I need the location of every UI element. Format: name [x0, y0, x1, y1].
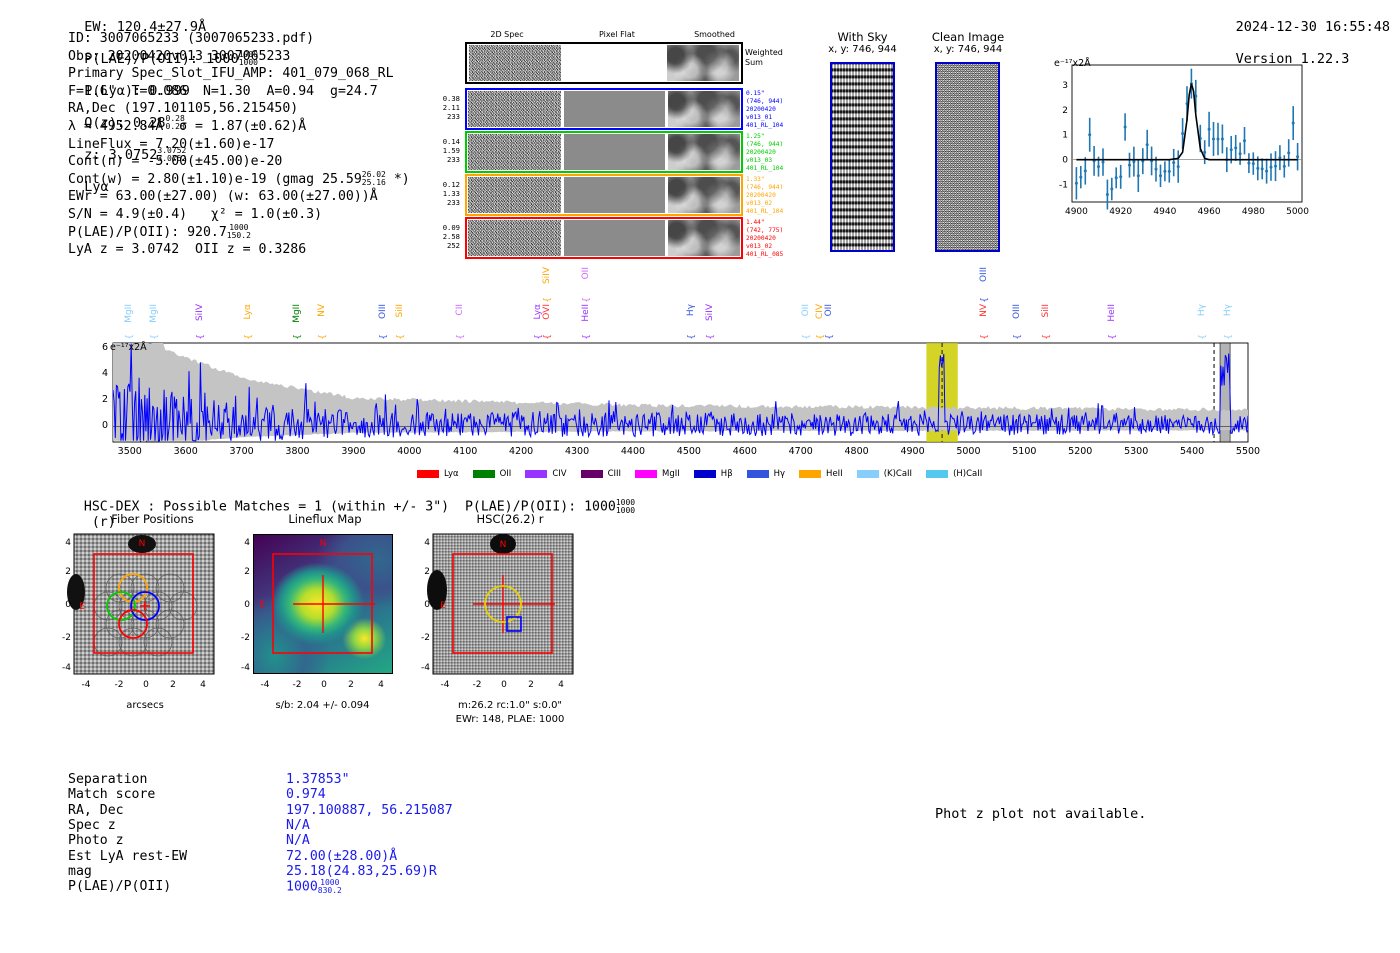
- legend-swatch: [799, 470, 821, 478]
- emission-line-brace: {: [582, 297, 592, 303]
- emission-line-label: OII: [825, 304, 834, 316]
- bigspec-unit-label: e⁻¹⁷x2Å: [110, 342, 147, 353]
- bigspec-x-tick: 4600: [719, 446, 771, 457]
- bigspec-x-tick: 5500: [1222, 446, 1274, 457]
- legend-item: Hβ: [694, 469, 733, 479]
- fiber-row: 0.092.582521.44"(742, 775)20200420v013_0…: [430, 217, 810, 259]
- fiber-row-right-meta: 0.15"(746, 944)20200420v013_01401_RL_104: [746, 90, 810, 130]
- legend-swatch: [635, 470, 657, 478]
- clean-image-subtitle: x, y: 746, 944: [918, 44, 1018, 55]
- svg-text:-2: -2: [241, 633, 250, 643]
- with-sky-title: With Sky: [815, 30, 910, 44]
- svg-text:0: 0: [143, 680, 149, 690]
- fiber-row-image-strip: [465, 88, 743, 130]
- emission-line-brace: {: [125, 334, 135, 340]
- legend-item: HeII: [799, 469, 843, 479]
- 2d-spec-panel: 2D Spec Pixel Flat Smoothed Weighted Sum…: [430, 30, 810, 262]
- table-row: P(LAE)/P(OII)10001000830.2: [68, 879, 538, 894]
- fiber-positions-title: Fiber Positions: [60, 512, 245, 526]
- fiber-pixelflat-image: [564, 134, 665, 170]
- svg-text:2: 2: [1062, 106, 1068, 116]
- table-row: Match score0.974: [68, 787, 538, 802]
- spec-col-title-2dspec: 2D Spec: [452, 30, 562, 39]
- bigspec-x-tick: 4400: [607, 446, 659, 457]
- svg-text:-4: -4: [421, 663, 430, 673]
- fiber-row: 0.382.112330.15"(746, 944)20200420v013_0…: [430, 88, 810, 130]
- legend-swatch: [417, 470, 439, 478]
- info-radec: RA,Dec (197.101105,56.215450): [68, 100, 410, 118]
- svg-text:4940: 4940: [1153, 207, 1176, 217]
- svg-text:0: 0: [501, 680, 507, 690]
- match-detail-table: Separation1.37853"Match score0.974RA, De…: [68, 772, 538, 902]
- full-spectrum-panel: MgII{MgII{SiIV{Lyα{MgII{NV{OIII{SiII{CII…: [0, 268, 1400, 478]
- emission-line-label: MgII: [125, 304, 134, 323]
- bigspec-x-tick: 5300: [1110, 446, 1162, 457]
- legend-swatch: [926, 470, 948, 478]
- hsc-r-xlabel: m:26.2 rc:1.0" s:0.0": [415, 700, 605, 711]
- fiber-row-image-strip: [465, 174, 743, 216]
- fiber-2dspec-image: [468, 177, 561, 213]
- table-row: Photo zN/A: [68, 833, 538, 848]
- fiber-pixelflat-image: [564, 177, 665, 213]
- emission-line-label: SiII: [396, 304, 405, 318]
- table-row-key: RA, Dec: [68, 803, 124, 818]
- fiber-2dspec-image: [468, 91, 561, 127]
- legend-swatch: [694, 470, 716, 478]
- with-sky-image: [830, 62, 895, 252]
- table-row-key: Spec z: [68, 818, 116, 833]
- legend-swatch: [747, 470, 769, 478]
- lineflux-map-overlay: N E 42 0-2 -4 -4-2 02 4: [235, 530, 415, 712]
- emission-line-brace: {: [1042, 334, 1052, 340]
- fiber-smoothed-image: [668, 134, 740, 170]
- svg-text:2: 2: [65, 567, 71, 577]
- spec-col-title-smoothed: Smoothed: [667, 30, 762, 39]
- bigspec-x-tick: 5400: [1166, 446, 1218, 457]
- bigspec-x-tick: 4000: [383, 446, 435, 457]
- fiber-positions-svg: N E 42 0-2 -4 -4-2 02 4: [60, 530, 245, 712]
- table-row: RA, Dec197.100887, 56.215087: [68, 803, 538, 818]
- hsc-r-title: HSC(26.2) r: [415, 512, 605, 526]
- legend-item: Hγ: [747, 469, 785, 479]
- bigspec-x-tick: 4200: [495, 446, 547, 457]
- legend-item: (K)CaII: [857, 469, 912, 479]
- table-row-key: Separation: [68, 772, 147, 787]
- fiber-2dspec-image: [468, 134, 561, 170]
- clean-image: [935, 62, 1000, 252]
- emission-line-label: SiIV: [196, 304, 205, 321]
- info-cont-w: Cont(w) = 2.80(±1.10)e-19 (gmag 25.5926.…: [68, 171, 410, 189]
- info-ewr: EWr = 63.00(±27.00) (w: 63.00(±27.00))Å: [68, 188, 410, 206]
- svg-text:0: 0: [65, 600, 71, 610]
- bigspec-x-tick: 4100: [439, 446, 491, 457]
- emission-line-label: Hγ: [1224, 304, 1233, 316]
- emission-line-label: OII: [582, 267, 591, 279]
- emission-line-label: SiII: [1042, 304, 1051, 318]
- source-info-block: ID: 3007065233 (3007065233.pdf) Obs: 202…: [68, 30, 410, 259]
- emission-line-brace: {: [825, 334, 835, 340]
- cutout-fiber-positions: Fiber Positions N E 42 0-2 -4: [60, 512, 245, 712]
- emission-line-brace: {: [582, 334, 592, 340]
- emission-line-brace: {: [318, 334, 328, 340]
- legend-label: (K)CaII: [884, 469, 912, 479]
- fiber-row: 0.121.332331.33"(746, 944)20200420v013_0…: [430, 174, 810, 216]
- table-row-key: Est LyA rest-EW: [68, 849, 187, 864]
- bigspec-x-tick: 3500: [104, 446, 156, 457]
- photoz-unavailable-message: Phot z plot not available.: [935, 806, 1146, 822]
- emission-line-label: NV: [318, 304, 327, 317]
- svg-text:4960: 4960: [1198, 207, 1221, 217]
- svg-text:4: 4: [378, 680, 384, 690]
- info-plae-poii: P(LAE)/P(OII): 920.71000150.2: [68, 224, 410, 242]
- emission-line-label: Lyα: [244, 304, 253, 319]
- svg-text:N: N: [500, 540, 507, 550]
- emission-line-label: CII: [456, 304, 465, 316]
- emission-line-brace: {: [244, 334, 254, 340]
- svg-text:2: 2: [170, 680, 176, 690]
- bigspec-x-tick: 3700: [216, 446, 268, 457]
- table-row-key: Photo z: [68, 833, 124, 848]
- table-row-value: 1.37853": [286, 772, 350, 787]
- legend-swatch: [525, 470, 547, 478]
- table-row-key: P(LAE)/P(OII): [68, 879, 171, 894]
- svg-text:4980: 4980: [1242, 207, 1265, 217]
- legend-item: CIV: [525, 469, 566, 479]
- timestamp: 2024-12-30 16:55:48: [1236, 19, 1390, 35]
- svg-text:4: 4: [424, 538, 430, 548]
- svg-text:0: 0: [1062, 156, 1068, 166]
- svg-text:4920: 4920: [1109, 207, 1132, 217]
- svg-text:0: 0: [321, 680, 327, 690]
- fiber-rows-container: 0.382.112330.15"(746, 944)20200420v013_0…: [430, 88, 810, 262]
- emission-line-label: NV: [980, 304, 989, 317]
- svg-text:-4: -4: [261, 680, 270, 690]
- svg-text:-4: -4: [241, 663, 250, 673]
- emission-line-label: OIII: [980, 267, 989, 282]
- bigspec-x-tick: 4900: [887, 446, 939, 457]
- info-redshifts: LyA z = 3.0742 OII z = 0.3286: [68, 241, 410, 259]
- info-seeing: F=1.6" T=0.086 N=1.30 A=0.94 g=24.7: [68, 83, 410, 101]
- legend-item: CIII: [581, 469, 621, 479]
- sky-clean-panel: With Sky x, y: 746, 944 Clean Image x, y…: [815, 30, 1020, 260]
- bigspec-y-tick: 6: [88, 342, 108, 353]
- svg-text:4: 4: [65, 538, 71, 548]
- legend-item: OII: [473, 469, 512, 479]
- fiber-row-right-meta: 1.33"(746, 944)20200420v013_02401_RL_104: [746, 176, 810, 216]
- line-zoom-plot: -10123490049204940496049805000 e⁻¹⁷x2Å: [1040, 55, 1310, 230]
- legend-item: Lyα: [417, 469, 459, 479]
- info-primary-spec: Primary Spec_Slot_IFU_AMP: 401_079_068_R…: [68, 65, 410, 83]
- emission-line-brace: {: [1198, 334, 1208, 340]
- fiber-row: 0.141.592331.25"(746, 944)20200420v013_0…: [430, 131, 810, 173]
- emission-line-labels: MgII{MgII{SiIV{Lyα{MgII{NV{OIII{SiII{CII…: [0, 268, 1400, 346]
- bigspec-y-tick: 0: [88, 420, 108, 431]
- fiber-smoothed-image: [668, 177, 740, 213]
- emission-line-brace: {: [706, 334, 716, 340]
- svg-text:1: 1: [1062, 131, 1068, 141]
- svg-text:2: 2: [424, 567, 430, 577]
- table-row-value: N/A: [286, 818, 310, 833]
- emission-line-brace: {: [980, 334, 990, 340]
- legend-label: OII: [500, 469, 512, 479]
- fiber-smoothed-image: [668, 220, 740, 256]
- bigspec-y-tick: 4: [88, 368, 108, 379]
- hsc-r-svg: N E 42 0-2 -4 -4-2 02 4: [415, 530, 605, 712]
- weighted-sum-label: Weighted Sum: [745, 48, 783, 68]
- emission-line-legend: LyαOIICIVCIIIMgIIHβHγHeII(K)CaII(H)CaII: [417, 463, 1017, 482]
- fiber-row-image-strip: [465, 217, 743, 259]
- svg-text:4: 4: [200, 680, 206, 690]
- legend-swatch: [857, 470, 879, 478]
- svg-text:5000: 5000: [1286, 207, 1309, 217]
- svg-text:4: 4: [558, 680, 564, 690]
- bigspec-x-tick: 4700: [775, 446, 827, 457]
- legend-label: Lyα: [444, 469, 459, 479]
- emission-line-label: SiIV: [706, 304, 715, 321]
- svg-text:2: 2: [528, 680, 534, 690]
- table-row-value: 197.100887, 56.215087: [286, 803, 453, 818]
- fiber-smoothed-image: [668, 91, 740, 127]
- svg-text:2: 2: [244, 567, 250, 577]
- table-row-key: mag: [68, 864, 92, 879]
- emission-line-brace: {: [396, 334, 406, 340]
- bigspec-x-tick: 5200: [1054, 446, 1106, 457]
- svg-text:-2: -2: [115, 680, 124, 690]
- info-id: ID: 3007065233 (3007065233.pdf): [68, 30, 410, 48]
- fiber-pixelflat-image: [564, 220, 665, 256]
- table-plae-range: 1000830.2: [318, 879, 342, 894]
- info-wavelength: λ = 4952.84Å σ = 1.87(±0.62)Å: [68, 118, 410, 136]
- svg-text:-4: -4: [441, 680, 450, 690]
- emission-line-label: HeII: [1108, 304, 1117, 322]
- cutout-hsc-r: HSC(26.2) r N E 42 0-2 -4 -4-2 02 4 m:26…: [415, 512, 605, 727]
- table-row: mag25.18(24.83,25.69)R: [68, 864, 538, 879]
- table-row-value: 72.00(±28.00)Å: [286, 849, 397, 864]
- emission-line-label: OIII: [1013, 304, 1022, 319]
- bigspec-y-tick: 2: [88, 394, 108, 405]
- table-row: Spec zN/A: [68, 818, 538, 833]
- svg-text:-2: -2: [421, 633, 430, 643]
- emission-line-label: SiIV: [543, 267, 552, 284]
- fiber-row-left-stats: 0.121.33233: [430, 180, 460, 208]
- fiber-row-right-meta: 1.25"(746, 944)20200420v013_03401_RL_104: [746, 133, 810, 173]
- info-lineflux: LineFlux = 7.20(±1.60)e-17: [68, 136, 410, 154]
- weighted-sum-2dspec-image: [469, 45, 561, 81]
- lineflux-map-title: Lineflux Map: [235, 512, 415, 526]
- emission-line-label: MgII: [293, 304, 302, 323]
- emission-line-label: OII: [802, 304, 811, 316]
- legend-label: MgII: [662, 469, 680, 479]
- svg-text:-2: -2: [293, 680, 302, 690]
- with-sky-subtitle: x, y: 746, 944: [815, 44, 910, 55]
- emission-line-brace: {: [379, 334, 389, 340]
- svg-text:4: 4: [244, 538, 250, 548]
- bigspec-x-tick: 4800: [831, 446, 883, 457]
- emission-line-brace: {: [543, 297, 553, 303]
- zoom-unit-label: e⁻¹⁷x2Å: [1054, 58, 1091, 69]
- emission-line-brace: {: [802, 334, 812, 340]
- svg-text:-2: -2: [473, 680, 482, 690]
- fiber-row-left-stats: 0.141.59233: [430, 137, 460, 165]
- fiber-row-right-meta: 1.44"(742, 775)20200420v013_02401_RL_085: [746, 219, 810, 259]
- info-obs: Obs: 20200420v013_3007065233: [68, 48, 410, 66]
- fiber-row-image-strip: [465, 131, 743, 173]
- weighted-sum-pixelflat-image: [563, 45, 665, 81]
- svg-text:-2: -2: [62, 633, 71, 643]
- svg-text:0: 0: [424, 600, 430, 610]
- table-row-value: 10001000830.2: [286, 879, 342, 895]
- weighted-sum-row: [465, 42, 743, 84]
- bigspec-x-tick: 4500: [663, 446, 715, 457]
- svg-text:E: E: [79, 602, 85, 612]
- emission-line-label: OIII: [379, 304, 388, 319]
- spec-col-title-pixelflat: Pixel Flat: [567, 30, 667, 39]
- bigspec-x-tick: 5000: [942, 446, 994, 457]
- bigspec-x-tick: 4300: [551, 446, 603, 457]
- svg-text:4900: 4900: [1065, 207, 1088, 217]
- emission-line-brace: {: [980, 297, 990, 303]
- table-row-value: 0.974: [286, 787, 326, 802]
- svg-text:-1: -1: [1059, 181, 1068, 191]
- bigspec-x-tick: 3800: [272, 446, 324, 457]
- clean-image-title: Clean Image: [918, 30, 1018, 44]
- weighted-sum-smoothed-image: [667, 45, 739, 81]
- svg-text:0: 0: [244, 600, 250, 610]
- emission-line-label: Hγ: [1198, 304, 1207, 316]
- svg-text:N: N: [139, 539, 146, 549]
- legend-label: Hβ: [721, 469, 733, 479]
- svg-text:-4: -4: [82, 680, 91, 690]
- legend-item: (H)CaII: [926, 469, 982, 479]
- svg-text:-4: -4: [62, 663, 71, 673]
- fiber-positions-xlabel: arcsecs: [60, 700, 230, 711]
- emission-line-brace: {: [196, 334, 206, 340]
- legend-item: MgII: [635, 469, 680, 479]
- svg-text:E: E: [440, 601, 446, 611]
- emission-line-brace: {: [1013, 334, 1023, 340]
- cutout-lineflux-map: Lineflux Map N E 42 0-2 -4 -4-2 02 4 s/b…: [235, 512, 415, 712]
- fiber-pixelflat-image: [564, 91, 665, 127]
- table-row: Est LyA rest-EW72.00(±28.00)Å: [68, 849, 538, 864]
- bigspec-x-tick: 3900: [327, 446, 379, 457]
- emission-line-brace: {: [1224, 334, 1234, 340]
- info-sn-chi2: S/N = 4.9(±0.4) χ² = 1.0(±0.3): [68, 206, 410, 224]
- emission-line-brace: {: [293, 334, 303, 340]
- emission-line-brace: {: [150, 334, 160, 340]
- svg-text:E: E: [259, 600, 265, 610]
- svg-text:3: 3: [1062, 81, 1068, 91]
- legend-swatch: [581, 470, 603, 478]
- bigspec-x-tick: 3600: [160, 446, 212, 457]
- emission-line-label: Hγ: [687, 304, 696, 316]
- fiber-row-left-stats: 0.092.58252: [430, 223, 460, 251]
- emission-line-label: MgII: [150, 304, 159, 323]
- hsc-plae-range: 10001000: [616, 499, 635, 514]
- emission-line-brace: {: [687, 334, 697, 340]
- emission-line-label: OVI: [543, 304, 552, 320]
- emission-line-brace: {: [456, 334, 466, 340]
- legend-label: HeII: [826, 469, 843, 479]
- table-row-key: Match score: [68, 787, 155, 802]
- fiber-2dspec-image: [468, 220, 561, 256]
- legend-label: CIII: [608, 469, 621, 479]
- svg-text:N: N: [320, 539, 327, 549]
- table-row-value: 25.18(24.83,25.69)R: [286, 864, 437, 879]
- legend-swatch: [473, 470, 495, 478]
- emission-line-label: HeII: [582, 304, 591, 322]
- legend-label: Hγ: [774, 469, 785, 479]
- bigspec-x-tick: 5100: [998, 446, 1050, 457]
- legend-label: CIV: [552, 469, 566, 479]
- table-row-value: N/A: [286, 833, 310, 848]
- legend-label: (H)CaII: [953, 469, 982, 479]
- full-spectrum-svg: [0, 340, 1330, 445]
- fiber-row-left-stats: 0.382.11233: [430, 94, 460, 122]
- table-row: Separation1.37853": [68, 772, 538, 787]
- hsc-r-xlabel2: EWr: 148, PLAE: 1000: [415, 714, 605, 725]
- info-cont-n: Cont(n) = -5.00(±45.00)e-20: [68, 153, 410, 171]
- lineflux-map-xlabel: s/b: 2.04 +/- 0.094: [235, 700, 410, 711]
- emission-line-brace: {: [1108, 334, 1118, 340]
- svg-text:2: 2: [348, 680, 354, 690]
- line-zoom-svg: -10123490049204940496049805000: [1040, 55, 1310, 230]
- emission-line-brace: {: [543, 334, 553, 340]
